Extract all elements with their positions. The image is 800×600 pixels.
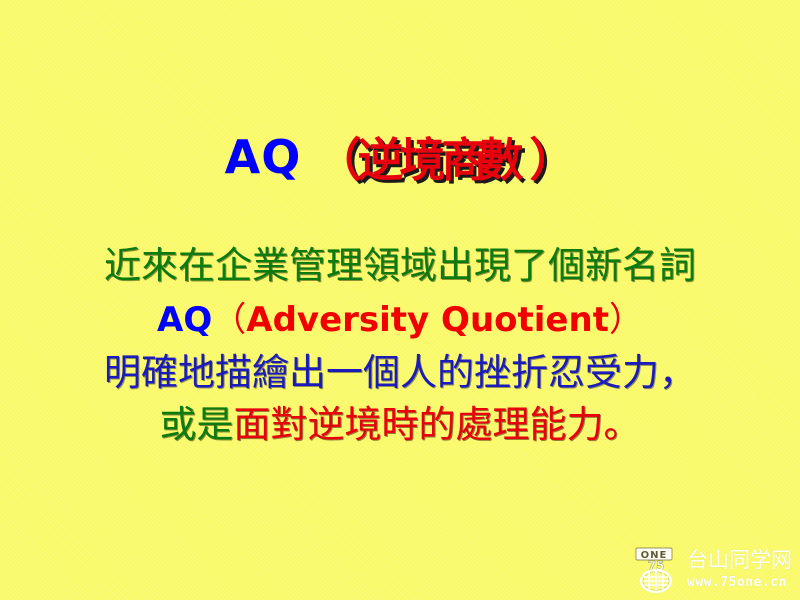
title-paren-close: ）	[529, 133, 575, 187]
watermark-text-block: 台山同学网 www.75one.cn	[687, 550, 792, 589]
body-line-4-red-text: 面對逆境時的處理能力。	[234, 403, 641, 446]
body-line-2-paren-close: ）	[609, 300, 643, 340]
body-line-2: AQ（Adversity Quotient）	[0, 292, 800, 347]
title-paren-open: （	[315, 133, 357, 187]
body-line-2-english: Adversity Quotient	[246, 300, 609, 340]
body-line-3: 明確地描繪出一個人的挫折忍受力，	[0, 347, 800, 399]
body-line-2-aq: AQ	[157, 300, 212, 340]
title-chinese-part2: 商數	[441, 133, 513, 187]
slide-body: 近來在企業管理領域出現了個新名詞 AQ（Adversity Quotient） …	[0, 240, 800, 451]
slide-canvas: AQ（逆境商數） 近來在企業管理領域出現了個新名詞 AQ（Adversity Q…	[0, 0, 800, 600]
body-line-3-text: 明確地描繪出一個人的挫折忍受力，	[104, 351, 696, 394]
body-line-1-text: 近來在企業管理領域出現了個新名詞	[104, 244, 696, 287]
title-aq-text: AQ	[225, 130, 302, 184]
body-line-1: 近來在企業管理領域出現了個新名詞	[0, 240, 800, 292]
site-watermark: ONE 75 台山同学网 www.75one.c	[630, 540, 796, 598]
seventy-five-one-logo-icon: ONE 75	[630, 543, 684, 595]
body-line-4-green-text: 或是	[160, 403, 234, 446]
slide-title: AQ（逆境商數）	[0, 124, 800, 190]
body-line-2-paren-open: （	[212, 300, 246, 340]
title-chinese-part1: 逆境	[357, 133, 441, 187]
watermark-url: www.75one.cn	[687, 576, 792, 589]
body-line-4: 或是面對逆境時的處理能力。	[0, 399, 800, 451]
watermark-site-name: 台山同学网	[687, 550, 792, 571]
title-chinese-group: （逆境商數）	[315, 133, 575, 187]
